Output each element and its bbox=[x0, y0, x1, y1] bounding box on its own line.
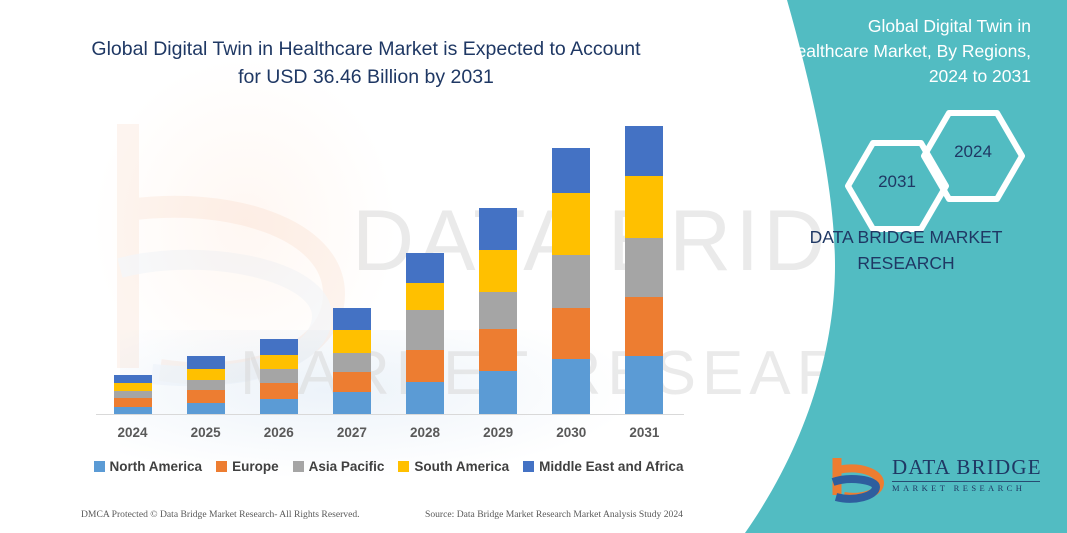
panel-brand-line1: DATA BRIDGE MARKET bbox=[781, 224, 1031, 250]
logo-mark-icon bbox=[830, 455, 884, 503]
data-bridge-logo: DATA BRIDGE MARKET RESEARCH bbox=[830, 453, 1045, 505]
bar-column bbox=[535, 148, 607, 415]
legend-label: Asia Pacific bbox=[309, 459, 385, 474]
bar-segment bbox=[479, 250, 517, 292]
bar-segment bbox=[552, 148, 590, 193]
x-axis-tick-2027: 2027 bbox=[316, 425, 388, 440]
legend-item[interactable]: South America bbox=[398, 459, 509, 474]
legend-swatch-icon bbox=[293, 461, 304, 472]
bar-column bbox=[389, 253, 461, 415]
chart-plot-area bbox=[96, 110, 681, 415]
footer-copyright: DMCA Protected © Data Bridge Market Rese… bbox=[81, 509, 360, 520]
bar-segment bbox=[625, 126, 663, 176]
bar-segment bbox=[479, 208, 517, 250]
bar-column bbox=[97, 375, 169, 415]
bar-segment bbox=[114, 398, 152, 406]
bar-column bbox=[462, 208, 534, 415]
stacked-bar bbox=[552, 148, 590, 415]
chart-title: Global Digital Twin in Healthcare Market… bbox=[86, 36, 646, 91]
bar-segment bbox=[625, 297, 663, 356]
x-axis-tick-2024: 2024 bbox=[97, 425, 169, 440]
bar-segment bbox=[552, 255, 590, 308]
bar-segment bbox=[406, 350, 444, 382]
bar-segment bbox=[406, 283, 444, 310]
hexagon-badges: 2024 2031 bbox=[809, 108, 1039, 208]
legend-label: South America bbox=[414, 459, 509, 474]
logo-subtitle: MARKET RESEARCH bbox=[892, 484, 1042, 493]
legend-item[interactable]: Europe bbox=[216, 459, 279, 474]
bar-segment bbox=[114, 391, 152, 399]
bar-segment bbox=[552, 308, 590, 358]
bar-column bbox=[608, 126, 680, 415]
bar-segment bbox=[625, 176, 663, 238]
bar-segment bbox=[406, 310, 444, 349]
footer: DMCA Protected © Data Bridge Market Rese… bbox=[0, 505, 700, 527]
x-axis-tick-2029: 2029 bbox=[462, 425, 534, 440]
stacked-bar bbox=[333, 308, 371, 415]
footer-source: Source: Data Bridge Market Research Mark… bbox=[425, 509, 683, 520]
bar-segment bbox=[260, 369, 298, 383]
legend-item[interactable]: North America bbox=[94, 459, 203, 474]
bar-segment bbox=[552, 359, 590, 415]
legend-label: North America bbox=[110, 459, 203, 474]
panel-brand-name: DATA BRIDGE MARKET RESEARCH bbox=[781, 224, 1031, 277]
bar-segment bbox=[333, 330, 371, 353]
bar-segment bbox=[333, 308, 371, 330]
legend-swatch-icon bbox=[523, 461, 534, 472]
bar-column bbox=[170, 356, 242, 415]
legend-item[interactable]: Asia Pacific bbox=[293, 459, 385, 474]
legend-swatch-icon bbox=[216, 461, 227, 472]
bar-segment bbox=[114, 375, 152, 383]
stacked-bar bbox=[187, 356, 225, 415]
bar-segment bbox=[333, 372, 371, 393]
bar-segment bbox=[625, 238, 663, 297]
bar-segment bbox=[260, 355, 298, 370]
bar-column bbox=[316, 308, 388, 415]
bar-segment bbox=[552, 193, 590, 255]
hexagon-2031-label: 2031 bbox=[843, 172, 951, 192]
legend-label: Europe bbox=[232, 459, 279, 474]
x-axis-tick-2025: 2025 bbox=[170, 425, 242, 440]
bar-segment bbox=[333, 353, 371, 372]
bar-segment bbox=[260, 339, 298, 355]
infographic-canvas: DATA BRIDGE MARKET RESEARCH Global Digit… bbox=[0, 0, 1067, 533]
x-axis-tick-2026: 2026 bbox=[243, 425, 315, 440]
legend-swatch-icon bbox=[398, 461, 409, 472]
bar-segment bbox=[479, 292, 517, 330]
logo-text: DATA BRIDGE MARKET RESEARCH bbox=[892, 457, 1042, 493]
x-axis-labels: 20242025202620272028202920302031 bbox=[96, 420, 681, 444]
stacked-bar bbox=[625, 126, 663, 415]
bar-segment bbox=[406, 253, 444, 283]
bar-segment bbox=[333, 392, 371, 415]
bar-segment bbox=[406, 382, 444, 415]
bar-segment bbox=[479, 371, 517, 415]
bar-segment bbox=[187, 390, 225, 402]
panel-title: Global Digital Twin in Healthcare Market… bbox=[781, 14, 1031, 89]
logo-title: DATA BRIDGE bbox=[892, 457, 1042, 478]
bar-segment bbox=[187, 380, 225, 390]
stacked-bar bbox=[260, 339, 298, 415]
bar-column bbox=[243, 339, 315, 415]
bar-segment bbox=[625, 356, 663, 415]
legend-swatch-icon bbox=[94, 461, 105, 472]
bar-segment bbox=[479, 329, 517, 370]
legend-item[interactable]: Middle East and Africa bbox=[523, 459, 683, 474]
chart-legend: North AmericaEuropeAsia PacificSouth Ame… bbox=[96, 454, 681, 478]
bar-segment bbox=[187, 369, 225, 380]
bar-segment bbox=[260, 399, 298, 415]
x-axis-line bbox=[96, 414, 684, 415]
hexagon-badge-2031: 2031 bbox=[843, 138, 951, 234]
panel-brand-line2: RESEARCH bbox=[781, 250, 1031, 276]
bar-segment bbox=[114, 383, 152, 391]
stacked-bar bbox=[479, 208, 517, 415]
x-axis-tick-2031: 2031 bbox=[608, 425, 680, 440]
x-axis-tick-2030: 2030 bbox=[535, 425, 607, 440]
legend-label: Middle East and Africa bbox=[539, 459, 683, 474]
stacked-bar bbox=[406, 253, 444, 415]
logo-divider bbox=[892, 481, 1040, 482]
x-axis-tick-2028: 2028 bbox=[389, 425, 461, 440]
bar-segment bbox=[187, 356, 225, 368]
stacked-bar bbox=[114, 375, 152, 415]
bar-group bbox=[96, 110, 681, 415]
bar-segment bbox=[260, 383, 298, 398]
